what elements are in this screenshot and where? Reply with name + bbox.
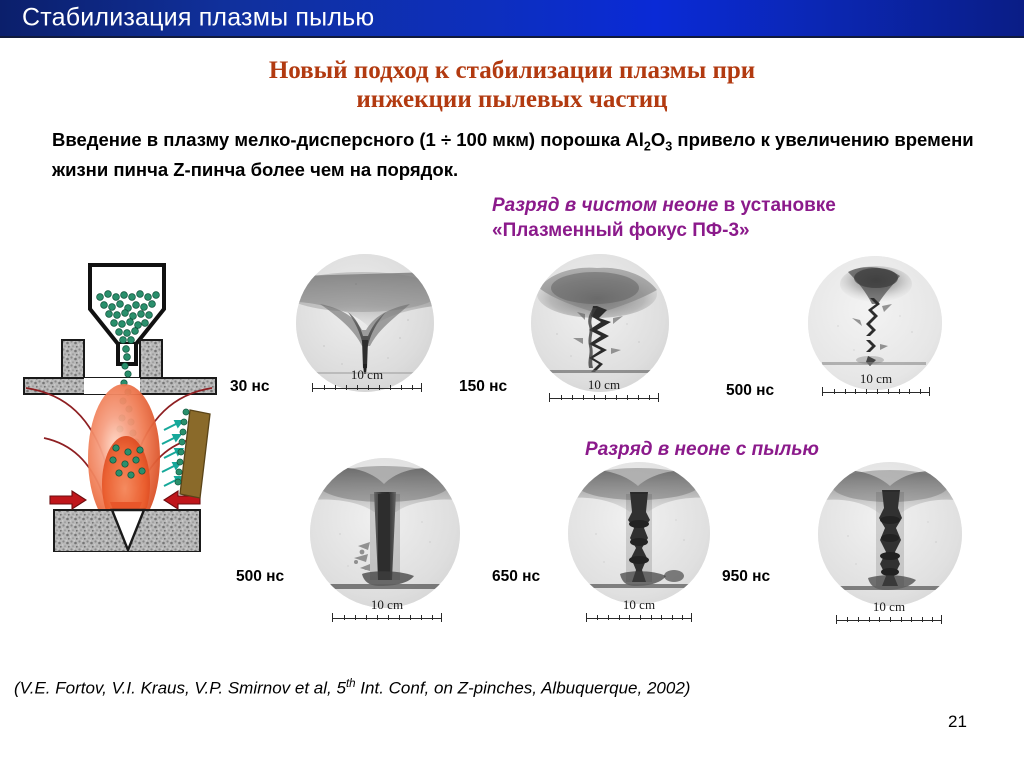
shot-pure-30ns[interactable]: 30 нс 10 cm — [296, 254, 434, 392]
title-bar: Стабилизация плазмы пылью — [0, 0, 1024, 38]
scale-bar-ruler — [586, 613, 692, 622]
scale-bar-ruler — [836, 615, 942, 624]
shot-time-label: 500 нс — [236, 568, 284, 586]
citation-part-a: (V.E. Fortov, V.I. Kraus, V.P. Smirnov e… — [14, 679, 346, 698]
page-title-line2: инжекции пылевых частиц — [0, 85, 1024, 114]
plasma-photo-dusty-950ns[interactable] — [818, 462, 962, 606]
scale-bar-caption: 10 cm — [822, 372, 930, 385]
shot-time-label: 500 нс — [726, 382, 774, 400]
shot-dusty-650ns[interactable]: 650 нс 10 cm — [568, 462, 710, 604]
section-heading-pure-neon: Разряд в чистом неоне в установке «Плазм… — [492, 193, 1012, 243]
formula-subscript-2: 2 — [644, 140, 651, 154]
section-heading-pure-neon-line2: «Плазменный фокус ПФ-3» — [492, 220, 750, 241]
plasma-photo-dusty-650ns[interactable] — [568, 462, 710, 604]
scale-bar: 10 cm — [836, 600, 942, 624]
citation-part-b: Int. Conf, on Z-pinches, Albuquerque, 20… — [356, 679, 691, 698]
scale-bar-caption: 10 cm — [332, 598, 442, 611]
section-heading-pure-neon-rest: в установке — [718, 195, 836, 216]
shot-pure-500ns[interactable]: 500 нс 10 cm — [808, 256, 942, 390]
scale-bar: 10 cm — [822, 372, 930, 396]
plasma-photo-pure-150ns[interactable] — [531, 254, 669, 392]
page-title-line1: Новый подход к стабилизации плазмы при — [269, 57, 755, 84]
citation-superscript: th — [346, 678, 356, 690]
intro-text-part2: O — [651, 129, 665, 150]
shot-time-label: 950 нс — [722, 568, 770, 586]
scale-bar-ruler — [549, 393, 659, 402]
scale-bar-caption: 10 cm — [586, 598, 692, 611]
intro-paragraph: Введение в плазму мелко-дисперсного (1 ÷… — [52, 126, 982, 184]
scale-bar-caption: 10 cm — [549, 378, 659, 391]
plasma-photo-pure-500ns[interactable] — [808, 256, 942, 390]
shot-time-label: 650 нс — [492, 568, 540, 586]
scale-bar: 10 cm — [549, 378, 659, 402]
shot-pure-150ns[interactable]: 150 нс 10 cm — [531, 254, 669, 392]
scale-bar-ruler — [822, 387, 930, 396]
slide-title: Стабилизация плазмы пылью — [22, 4, 374, 33]
plasma-photo-dusty-500ns[interactable] — [310, 458, 460, 608]
apparatus-diagram — [14, 252, 240, 552]
page-title: Новый подход к стабилизации плазмы при и… — [0, 56, 1024, 114]
shot-time-label: 30 нс — [230, 378, 270, 396]
scale-bar-ruler — [312, 383, 422, 392]
scale-bar-ruler — [332, 613, 442, 622]
collector-plate — [175, 409, 210, 498]
cathode-base — [54, 510, 200, 552]
section-heading-pure-neon-italic: Разряд в чистом неоне — [492, 195, 718, 216]
intro-text-part1: Введение в плазму мелко-дисперсного (1 ÷… — [52, 129, 644, 150]
scale-bar: 10 cm — [312, 368, 422, 392]
shot-dusty-950ns[interactable]: 950 нс 10 cm — [818, 462, 962, 606]
section-heading-dusty-neon: Разряд в неоне с пылью — [492, 437, 912, 462]
shot-time-label: 150 нс — [459, 378, 507, 396]
section-heading-dusty-neon-italic: Разряд в неоне с пылью — [585, 439, 819, 460]
citation: (V.E. Fortov, V.I. Kraus, V.P. Smirnov e… — [14, 678, 690, 699]
scale-bar-caption: 10 cm — [312, 368, 422, 381]
scale-bar: 10 cm — [332, 598, 442, 622]
scale-bar: 10 cm — [586, 598, 692, 622]
scale-bar-caption: 10 cm — [836, 600, 942, 613]
page-number: 21 — [948, 712, 967, 732]
shot-dusty-500ns[interactable]: 500 нс 10 cm — [310, 458, 460, 608]
